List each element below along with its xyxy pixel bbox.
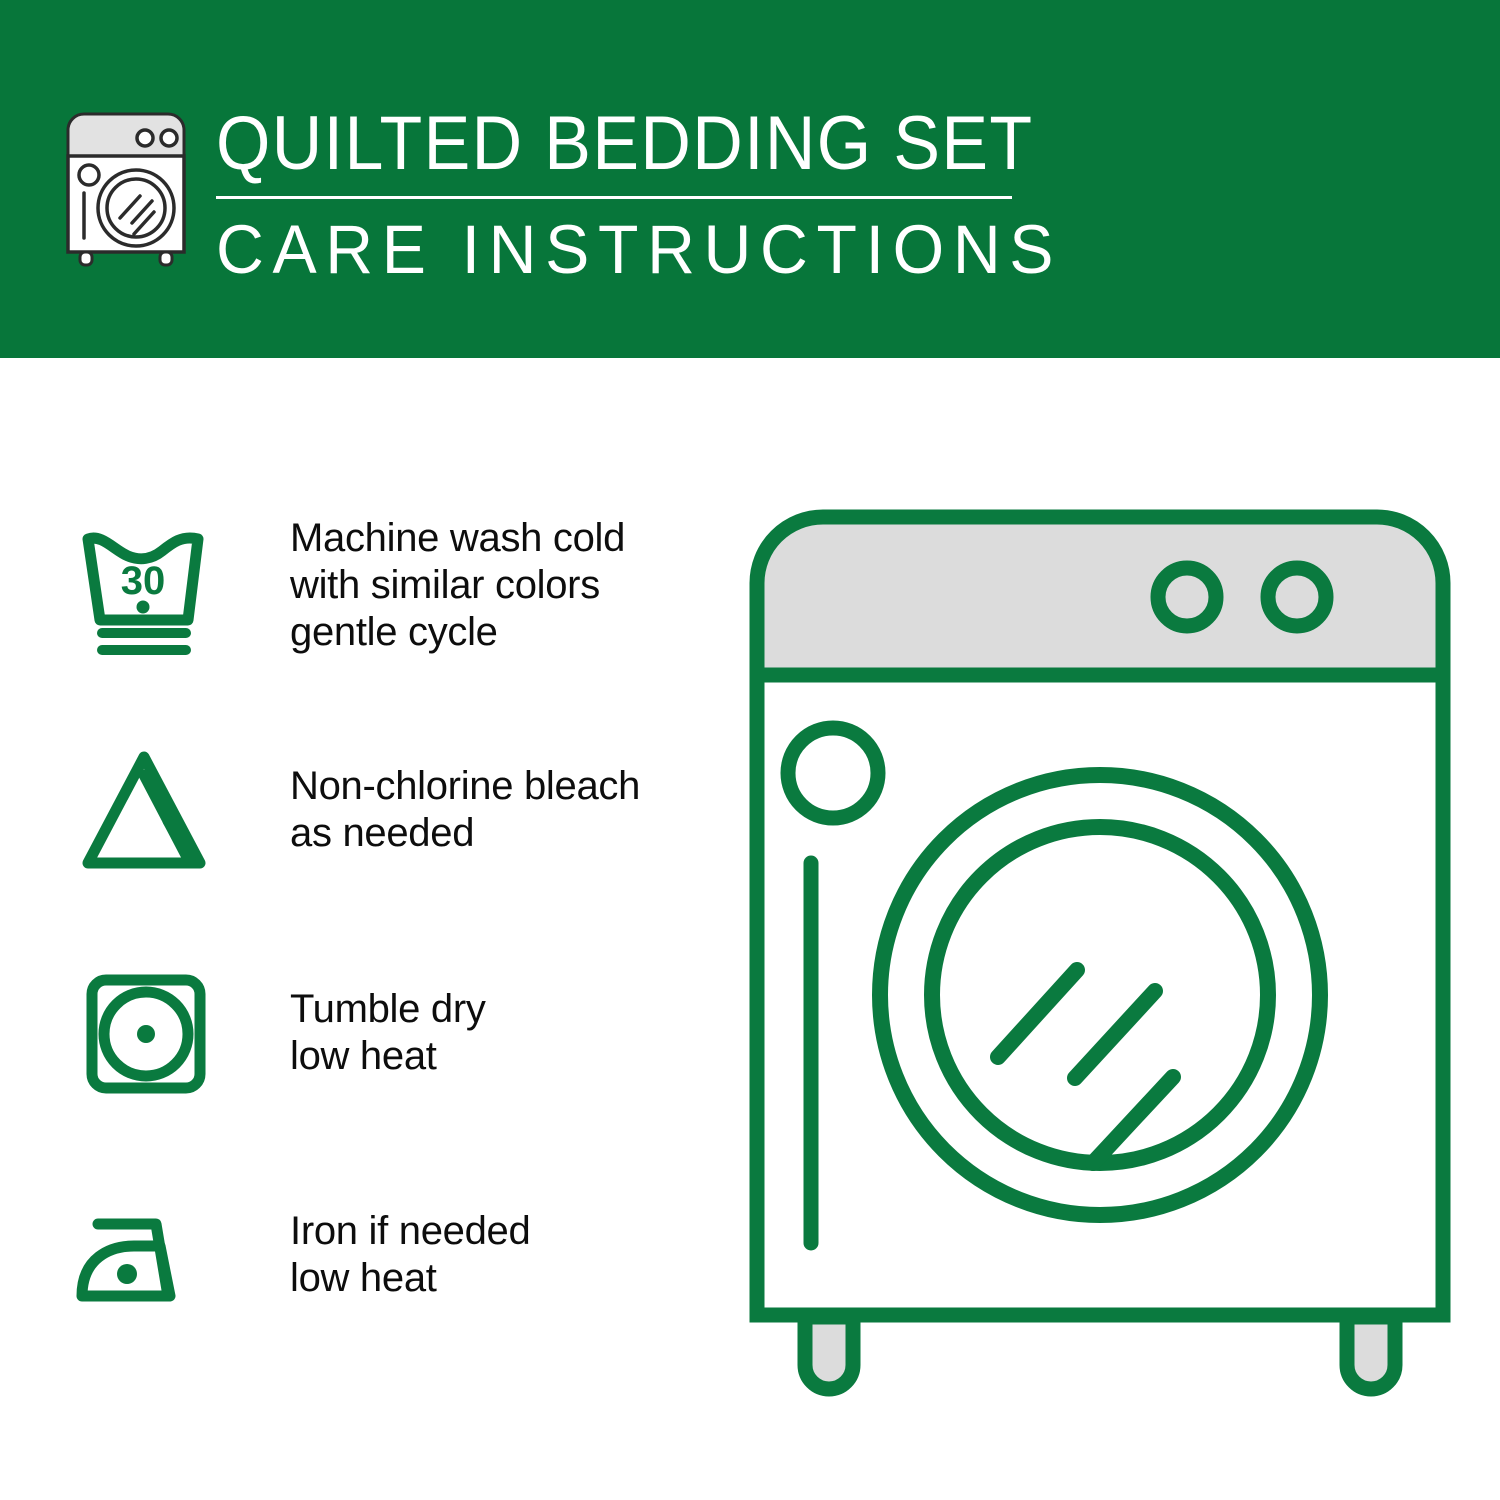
iron-low-heat-icon: [72, 1180, 222, 1330]
washing-machine-icon: [62, 108, 190, 268]
care-label-tumble-dry: Tumble dry low heat: [290, 986, 486, 1080]
control-panel: [757, 517, 1443, 675]
care-label-line: gentle cycle: [290, 609, 625, 656]
machine-leg: [805, 1317, 853, 1389]
wash-temperature-value: 30: [121, 559, 166, 603]
header-text-block: QUILTED BEDDING SET CARE INSTRUCTIONS: [216, 104, 1016, 287]
tumble-dry-low-heat-icon: [72, 958, 222, 1108]
care-label-line: Tumble dry: [290, 986, 486, 1033]
care-label-line: low heat: [290, 1033, 486, 1080]
page-subtitle: CARE INSTRUCTIONS: [216, 213, 984, 287]
care-instructions-page: QUILTED BEDDING SET CARE INSTRUCTIONS: [0, 0, 1500, 1500]
care-label-line: low heat: [290, 1255, 530, 1302]
header-banner: QUILTED BEDDING SET CARE INSTRUCTIONS: [0, 0, 1500, 358]
care-label-line: Machine wash cold: [290, 515, 625, 562]
dial-icon: [788, 728, 878, 818]
front-load-washing-machine-illustration: [745, 505, 1455, 1415]
care-label-line: with similar colors: [290, 562, 625, 609]
care-label-bleach: Non-chlorine bleach as needed: [290, 763, 640, 857]
page-title: QUILTED BEDDING SET: [216, 104, 952, 184]
care-item-iron: Iron if needed low heat: [72, 1180, 712, 1330]
care-item-bleach: Non-chlorine bleach as needed: [72, 735, 712, 885]
knob-icon: [1158, 568, 1216, 626]
care-label-wash: Machine wash cold with similar colors ge…: [290, 515, 625, 656]
care-label-line: Non-chlorine bleach: [290, 763, 640, 810]
care-label-line: Iron if needed: [290, 1208, 530, 1255]
non-chlorine-bleach-triangle-icon: [72, 735, 222, 885]
machine-leg: [1347, 1317, 1395, 1389]
care-label-line: as needed: [290, 810, 640, 857]
care-item-tumble-dry: Tumble dry low heat: [72, 958, 712, 1108]
wash-tub-30-gentle-icon: 30: [72, 510, 222, 660]
care-label-iron: Iron if needed low heat: [290, 1208, 530, 1302]
title-divider: [216, 196, 1012, 199]
knob-icon: [1268, 568, 1326, 626]
drum-inner: [932, 827, 1268, 1163]
care-item-wash: 30 Machine wash cold with similar colors…: [72, 510, 712, 660]
